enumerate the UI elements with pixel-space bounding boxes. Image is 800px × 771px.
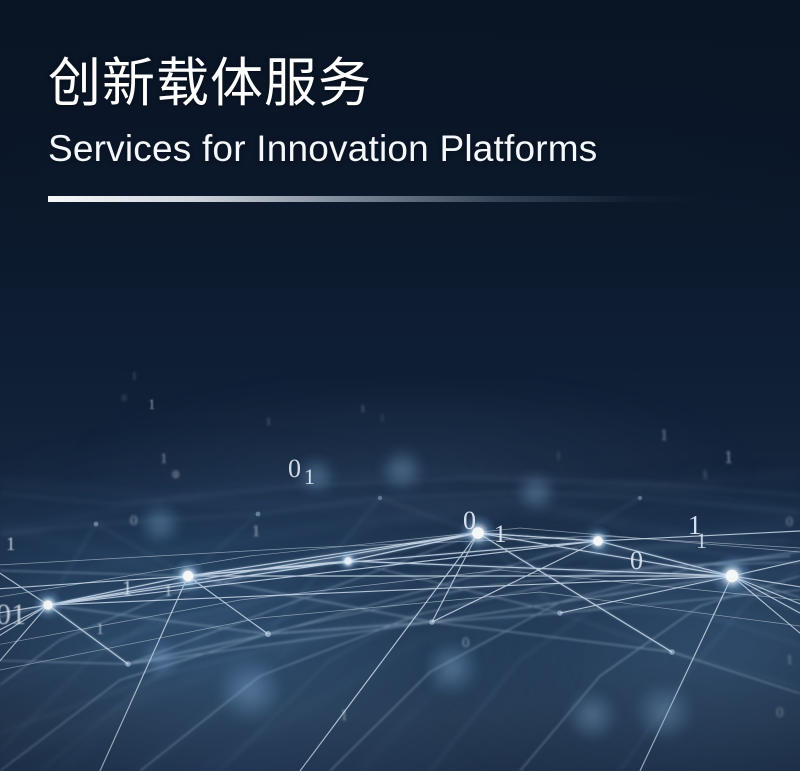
binary-digit: 1	[266, 418, 271, 428]
binary-digit: 0	[122, 394, 127, 403]
binary-digit: 1	[164, 582, 173, 599]
binary-digit: 0	[288, 456, 301, 482]
binary-digit: 1	[724, 448, 733, 466]
binary-digit: 1	[380, 414, 385, 423]
binary-digit: 0	[174, 470, 180, 481]
bokeh-circle	[516, 472, 556, 512]
binary-digit: 1	[132, 372, 137, 381]
binary-digit: 1	[252, 524, 260, 540]
binary-digit: 0	[776, 706, 784, 721]
title-divider-rule	[48, 196, 710, 202]
bokeh-circle	[297, 457, 335, 495]
binary-digit: 0	[630, 548, 643, 574]
bokeh-circle	[567, 691, 617, 741]
bokeh-circle	[380, 448, 424, 492]
bokeh-circle	[425, 641, 479, 695]
bokeh-circle	[635, 683, 693, 741]
binary-digit: 1	[660, 428, 668, 444]
bokeh-circle	[217, 657, 283, 723]
binary-digit: 1	[96, 622, 104, 638]
binary-digit: 1	[304, 466, 315, 488]
bokeh-circle	[139, 503, 181, 545]
binary-digit: 1	[360, 404, 366, 415]
binary-digit: 1	[160, 452, 168, 467]
binary-digit: 0	[463, 508, 476, 534]
binary-digit: 01	[0, 600, 26, 630]
binary-digit: 1	[148, 398, 156, 413]
binary-digit: 1	[556, 452, 561, 462]
binary-digit: 1	[696, 530, 707, 552]
binary-digit: 0	[462, 636, 470, 651]
binary-digit: 0	[786, 516, 793, 530]
bokeh-circle	[142, 640, 178, 676]
binary-digit: 1	[340, 708, 348, 724]
binary-digit: 1	[494, 522, 507, 547]
binary-digit: 1	[6, 535, 16, 554]
binary-digit: 1	[702, 468, 708, 480]
binary-digit: 1	[122, 578, 133, 599]
innovation-platforms-banner: 010110011111100110101111111011001 创新载体服务…	[0, 0, 800, 771]
binary-digit: 1	[786, 654, 793, 668]
page-title-chinese: 创新载体服务	[48, 54, 748, 113]
banner-header: 创新载体服务 Services for Innovation Platforms	[48, 54, 748, 172]
binary-digit: 0	[130, 514, 138, 529]
page-title-english: Services for Innovation Platforms	[48, 127, 748, 171]
